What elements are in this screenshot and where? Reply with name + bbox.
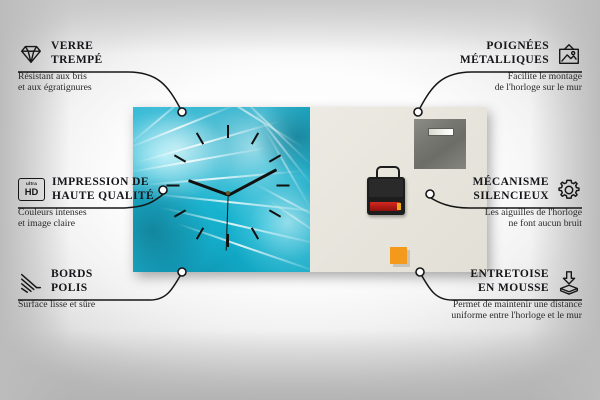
diamond-icon: [18, 41, 44, 67]
feature-title-line1: ENTRETOISE: [470, 268, 549, 282]
feature-title-line1: MÉCANISME: [473, 176, 549, 190]
feature-mecanisme-silencieux: MÉCANISME SILENCIEUX Les aiguilles de l'…: [440, 176, 582, 230]
wall-mount-frame-icon: [556, 41, 582, 67]
feature-entretoise-en-mousse: ENTRETOISE EN MOUSSE Permet de maintenir…: [422, 268, 582, 322]
feature-title-line2: HAUTE QUALITÉ: [52, 190, 154, 204]
feature-poignees-metalliques: POIGNÉES MÉTALLIQUES Facilite le montage…: [442, 40, 582, 94]
feature-title-line2: EN MOUSSE: [470, 282, 549, 296]
feature-desc-line2: uniforme entre l'horloge et le mur: [422, 310, 582, 322]
feature-desc-line2: de l'horloge sur le mur: [442, 82, 582, 94]
ultra-hd-icon: ultra HD: [18, 178, 45, 201]
infographic-canvas: VERRE TREMPÉ Résistant aux bris et aux é…: [0, 0, 600, 400]
polished-edges-icon: [18, 269, 44, 295]
feature-title-line1: POIGNÉES: [460, 40, 549, 54]
feature-title-line2: TREMPÉ: [51, 54, 103, 68]
feature-verre-trempe: VERRE TREMPÉ Résistant aux bris et aux é…: [18, 40, 158, 94]
feature-title-line1: VERRE: [51, 40, 103, 54]
feature-desc-line1: Les aiguilles de l'horloge: [440, 207, 582, 219]
feature-desc-line2: et image claire: [18, 218, 168, 230]
feature-desc-line1: Surface lisse et sûre: [18, 299, 168, 311]
feature-desc-line1: Facilite le montage: [442, 71, 582, 83]
feature-desc-line1: Permet de maintenir une distance: [422, 299, 582, 311]
feature-desc-line2: et aux égratignures: [18, 82, 158, 94]
feature-impression-haute-qualite: ultra HD IMPRESSION DE HAUTE QUALITÉ Cou…: [18, 176, 168, 230]
gear-icon: [556, 177, 582, 203]
feature-title-line1: BORDS: [51, 268, 93, 282]
ultra-hd-icon-large-text: HD: [25, 187, 39, 197]
feature-desc-line2: ne font aucun bruit: [440, 218, 582, 230]
feature-title-line2: SILENCIEUX: [473, 190, 549, 204]
feature-title-line2: MÉTALLIQUES: [460, 54, 549, 68]
feature-title-line2: POLIS: [51, 282, 93, 296]
foam-spacer-icon: [556, 269, 582, 295]
feature-desc-line1: Résistant aux bris: [18, 71, 158, 83]
feature-title-line1: IMPRESSION DE: [52, 176, 154, 190]
feature-desc-line1: Couleurs intenses: [18, 207, 168, 219]
feature-bords-polis: BORDS POLIS Surface lisse et sûre: [18, 268, 168, 310]
